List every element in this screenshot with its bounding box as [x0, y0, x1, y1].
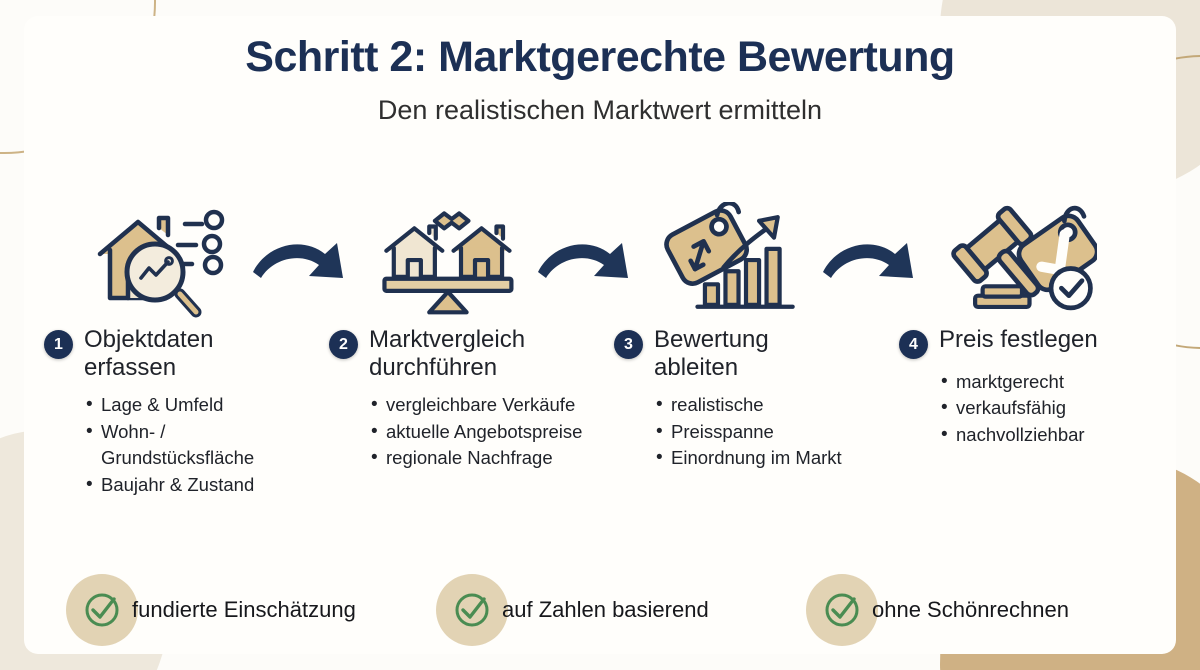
- footer-badge-2-label: auf Zahlen basierend: [502, 597, 709, 623]
- step-3-title: Bewertung ableiten: [654, 326, 859, 382]
- list-item: Wohn- / Grundstücksfläche: [86, 419, 319, 472]
- footer-badges: fundierte Einschätzung auf Zahlen basier…: [0, 574, 1200, 646]
- infographic-slide: Schritt 2: Marktgerechte Bewertung Den r…: [0, 0, 1200, 670]
- step-4-title: Preis festlegen: [939, 326, 1098, 354]
- step-4-icon-wrap: [889, 196, 1174, 326]
- step-2-title: Marktvergleich durchführen: [369, 326, 574, 382]
- bullet-text-continued: Grundstücksfläche: [101, 445, 319, 471]
- step-2-bullets: vergleichbare Verkäufe aktuelle Angebots…: [319, 392, 604, 471]
- step-1-title: Objektdaten erfassen: [84, 326, 289, 382]
- step-4-number-badge: 4: [899, 330, 928, 359]
- footer-badge-1: fundierte Einschätzung: [66, 574, 436, 646]
- step-3-bullets: realistische Preisspanne Einordnung im M…: [604, 392, 889, 471]
- bullet-text: vergleichbare Verkäufe: [386, 394, 575, 415]
- bullet-text: regionale Nachfrage: [386, 447, 553, 468]
- list-item: Lage & Umfeld: [86, 392, 319, 418]
- bullet-text: Wohn- /: [101, 421, 165, 442]
- list-item: marktgerecht: [941, 369, 1174, 395]
- page-subtitle: Den realistischen Marktwert ermitteln: [0, 95, 1200, 126]
- bullet-text: verkaufsfähig: [956, 397, 1066, 418]
- list-item: nachvollziehbar: [941, 422, 1174, 448]
- footer-badge-2: auf Zahlen basierend: [436, 574, 806, 646]
- bullet-text: aktuelle Angebotspreise: [386, 421, 582, 442]
- page-title: Schritt 2: Marktgerechte Bewertung: [0, 34, 1200, 81]
- step-4: 4 Preis festlegen marktgerecht verkaufsf…: [889, 196, 1174, 498]
- price-tag-bar-chart-icon: [662, 202, 802, 320]
- footer-badge-2-circle: [436, 574, 508, 646]
- check-circle-icon: [82, 590, 122, 630]
- footer-badge-3-circle: [806, 574, 878, 646]
- bullet-text: nachvollziehbar: [956, 424, 1085, 445]
- footer-badge-1-label: fundierte Einschätzung: [132, 597, 356, 623]
- footer-badge-3-label: ohne Schönrechnen: [872, 597, 1069, 623]
- step-3-header: 3 Bewertung ableiten: [604, 326, 889, 382]
- step-1-header: 1 Objektdaten erfassen: [34, 326, 319, 382]
- step-1-bullets: Lage & Umfeld Wohn- / Grundstücksfläche …: [34, 392, 319, 498]
- list-item: realistische: [656, 392, 889, 418]
- footer-badge-1-circle: [66, 574, 138, 646]
- step-3-number-badge: 3: [614, 330, 643, 359]
- balance-two-houses-icon: [377, 202, 517, 320]
- list-item: Preisspanne: [656, 419, 889, 445]
- list-item: aktuelle Angebotspreise: [371, 419, 604, 445]
- bullet-text: Baujahr & Zustand: [101, 474, 254, 495]
- step-1-number-badge: 1: [44, 330, 73, 359]
- step-1: 1 Objektdaten erfassen Lage & Umfeld Woh…: [34, 196, 319, 498]
- step-3: 3 Bewertung ableiten realistische Preiss…: [604, 196, 889, 498]
- list-item: regionale Nachfrage: [371, 445, 604, 471]
- step-4-bullets: marktgerecht verkaufsfähig nachvollziehb…: [889, 369, 1174, 448]
- check-circle-icon: [822, 590, 862, 630]
- list-item: Baujahr & Zustand: [86, 472, 319, 498]
- step-2: 2 Marktvergleich durchführen vergleichba…: [319, 196, 604, 498]
- check-circle-icon: [452, 590, 492, 630]
- bullet-text: Lage & Umfeld: [101, 394, 223, 415]
- header: Schritt 2: Marktgerechte Bewertung Den r…: [0, 34, 1200, 126]
- list-item: verkaufsfähig: [941, 395, 1174, 421]
- step-2-number-badge: 2: [329, 330, 358, 359]
- bullet-text: marktgerecht: [956, 371, 1064, 392]
- list-item: Einordnung im Markt: [656, 445, 889, 471]
- list-item: vergleichbare Verkäufe: [371, 392, 604, 418]
- steps-row: 1 Objektdaten erfassen Lage & Umfeld Woh…: [34, 196, 1182, 498]
- bullet-text: realistische: [671, 394, 764, 415]
- step-2-header: 2 Marktvergleich durchführen: [319, 326, 604, 382]
- bullet-text: Preisspanne: [671, 421, 774, 442]
- house-magnifier-data-icon: [92, 202, 232, 320]
- step-4-header: 4 Preis festlegen: [889, 326, 1174, 359]
- gavel-tag-check-icon: [947, 202, 1097, 320]
- bullet-text: Einordnung im Markt: [671, 447, 842, 468]
- footer-badge-3: ohne Schönrechnen: [806, 574, 1176, 646]
